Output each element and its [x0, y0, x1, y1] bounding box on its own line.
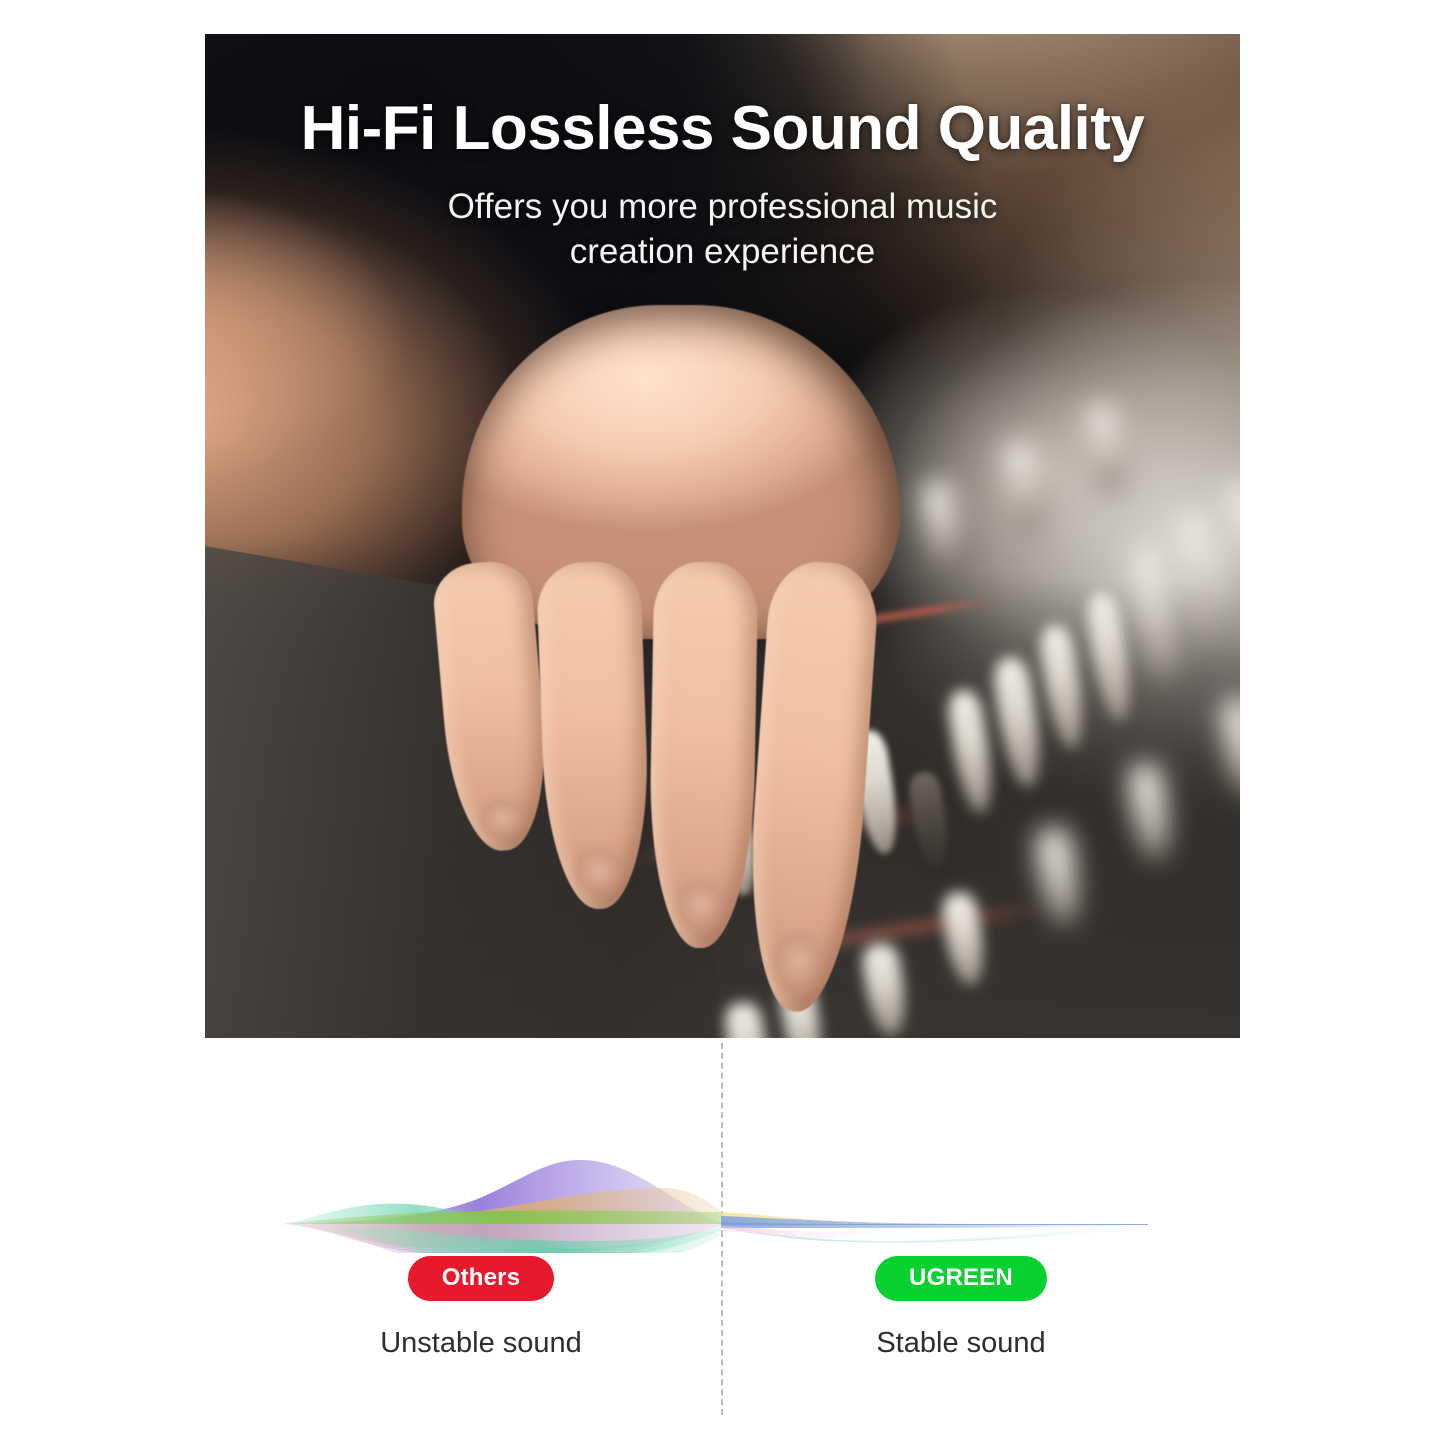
others-caption: Unstable sound [281, 1329, 681, 1358]
finger-2 [536, 560, 652, 910]
hand-on-console [433, 305, 930, 948]
status-badge-ugreen: UGREEN [875, 1256, 1047, 1301]
others-column: Others Unstable sound [281, 1256, 681, 1358]
hero-image: Hi-Fi Lossless Sound Quality Offers you … [205, 34, 1240, 1038]
finger-3 [648, 561, 759, 948]
hero-copy-block: Hi-Fi Lossless Sound Quality Offers you … [205, 96, 1240, 275]
ugreen-column: UGREEN Stable sound [761, 1256, 1161, 1358]
waveform-ugreen [721, 1212, 1148, 1243]
comparison-labels: Others Unstable sound UGREEN Stable soun… [0, 1256, 1445, 1396]
waveform-others [281, 1160, 721, 1253]
status-badge-others: Others [408, 1256, 555, 1301]
ugreen-caption: Stable sound [761, 1329, 1161, 1358]
page-subtitle: Offers you more professional music creat… [403, 184, 1043, 275]
waveform-chart [0, 1078, 1445, 1253]
page-title: Hi-Fi Lossless Sound Quality [205, 96, 1240, 162]
comparison-section: Others Unstable sound UGREEN Stable soun… [0, 1038, 1445, 1445]
